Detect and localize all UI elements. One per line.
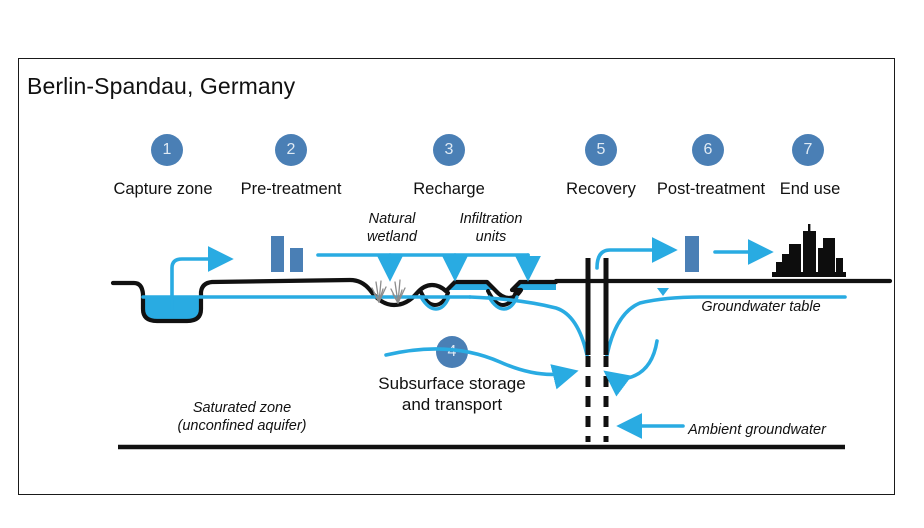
- post-treatment-block-icon: [685, 236, 699, 272]
- cone-of-depression-left: [470, 297, 587, 355]
- flow-arrow-subsurface-transport: [386, 349, 573, 375]
- cross-section-schematic: [0, 0, 924, 528]
- diagram-canvas: Berlin-Spandau, Germany 1 2 3 5 6 7 4 Ca…: [0, 0, 924, 528]
- pre-treatment-block-tall-icon: [271, 236, 284, 272]
- flow-arrow-right-inflow-to-well: [608, 341, 657, 379]
- city-skyline-icon: [772, 224, 846, 277]
- pre-treatment-block-short-icon: [290, 248, 303, 272]
- cone-of-depression-right: [607, 297, 845, 355]
- water-table-marker-icon: [657, 288, 669, 296]
- recovery-well-icon: [588, 258, 606, 442]
- reed-grass-icon: [372, 280, 405, 303]
